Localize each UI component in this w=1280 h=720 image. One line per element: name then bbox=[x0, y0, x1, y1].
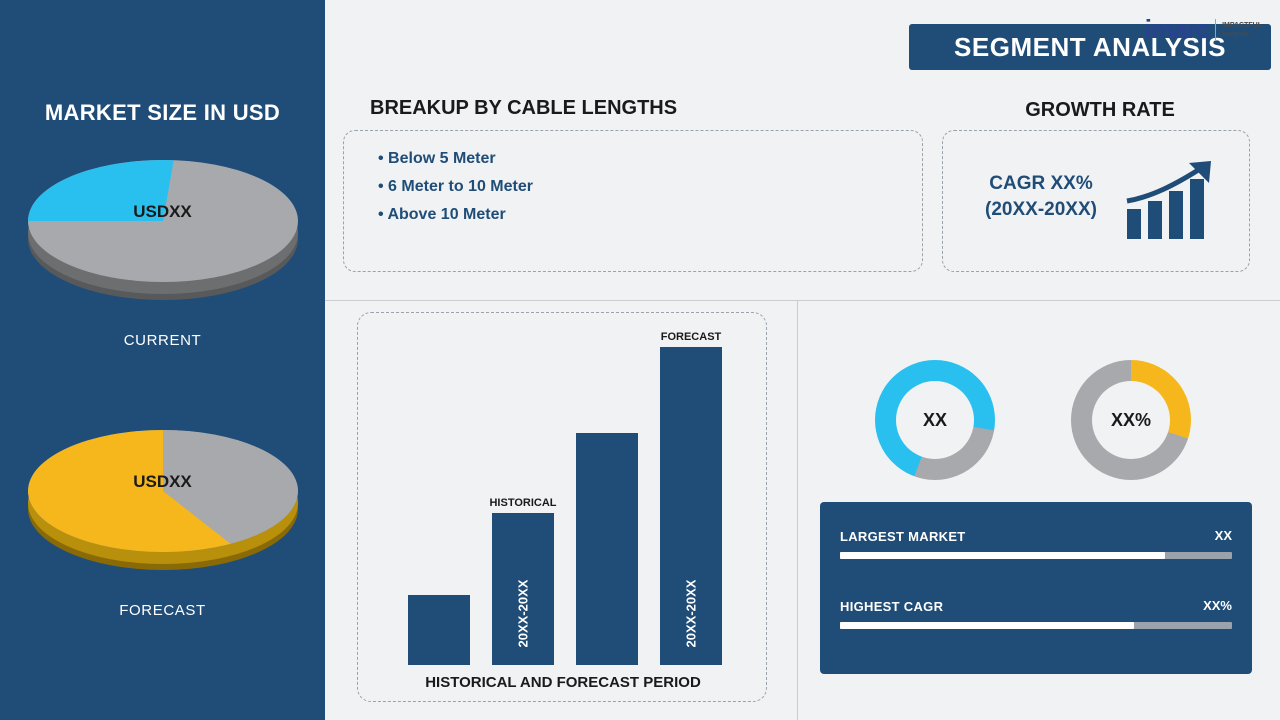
breakup-heading: BREAKUP BY CABLE LENGTHS bbox=[370, 97, 677, 120]
market-value-donut-label: XX bbox=[896, 381, 974, 459]
growth-rate-heading: GROWTH RATE bbox=[945, 99, 1255, 122]
vertical-divider bbox=[797, 300, 798, 720]
list-item: Above 10 Meter bbox=[378, 201, 922, 229]
bar-chart-plot-area: HISTORICAL 20XX-20XX FORECAST 20XX-20XX bbox=[386, 347, 741, 665]
bar-chart-axis-label: HISTORICAL AND FORECAST PERIOD bbox=[358, 674, 768, 691]
market-value-donut: XX bbox=[875, 360, 995, 480]
bar-2-label: 20XX-20XX bbox=[516, 580, 531, 648]
stat-row-highest-cagr: HIGHEST CAGR XX% bbox=[840, 598, 1232, 629]
forecast-pie-label: FORECAST bbox=[0, 602, 325, 619]
historical-tag: HISTORICAL bbox=[489, 497, 556, 509]
cagr-line1: CAGR XX% bbox=[961, 171, 1121, 197]
bar-1 bbox=[408, 595, 470, 665]
bar-2: HISTORICAL 20XX-20XX bbox=[492, 513, 554, 665]
highest-cagr-label: HIGHEST CAGR bbox=[840, 599, 943, 614]
breakup-list-box: Below 5 Meter 6 Meter to 10 Meter Above … bbox=[343, 130, 923, 272]
growth-rate-box: CAGR XX% (20XX-20XX) bbox=[942, 130, 1250, 272]
segment-analysis-infographic: MARKET SIZE IN USD USDXX CURRENT USD bbox=[0, 0, 1280, 720]
largest-market-bar-fill bbox=[840, 552, 1165, 559]
stat-row-largest-market: LARGEST MARKET XX bbox=[840, 528, 1232, 559]
list-item: Below 5 Meter bbox=[378, 145, 922, 173]
market-stats-card: LARGEST MARKET XX HIGHEST CAGR XX% bbox=[820, 502, 1252, 674]
imarc-logo: imarc IMPACTFUL Insights bbox=[1145, 14, 1262, 45]
historical-forecast-bar-chart: HISTORICAL 20XX-20XX FORECAST 20XX-20XX … bbox=[357, 312, 767, 702]
current-pie-chart: USDXX CURRENT bbox=[0, 160, 325, 350]
market-size-title: MARKET SIZE IN USD bbox=[0, 100, 325, 126]
largest-market-bar-track bbox=[840, 552, 1232, 559]
growth-share-donut-label: XX% bbox=[1092, 381, 1170, 459]
bar-4-label: 20XX-20XX bbox=[684, 580, 699, 648]
cagr-line2: (20XX-20XX) bbox=[961, 197, 1121, 223]
horizontal-divider bbox=[325, 300, 1280, 301]
growth-arrow-chart-icon bbox=[1123, 161, 1227, 241]
logo-tagline-line2: Insights bbox=[1222, 30, 1262, 39]
highest-cagr-bar-fill bbox=[840, 622, 1134, 629]
logo-tagline-line1: IMPACTFUL bbox=[1222, 21, 1262, 30]
cagr-text: CAGR XX% (20XX-20XX) bbox=[961, 171, 1121, 223]
market-size-panel: MARKET SIZE IN USD USDXX CURRENT USD bbox=[0, 0, 325, 720]
largest-market-label: LARGEST MARKET bbox=[840, 529, 966, 544]
current-pie-value: USDXX bbox=[28, 202, 298, 222]
current-pie-label: CURRENT bbox=[0, 332, 325, 349]
bar-3 bbox=[576, 433, 638, 665]
logo-tagline: IMPACTFUL Insights bbox=[1222, 21, 1262, 39]
logo-divider bbox=[1215, 19, 1216, 41]
forecast-pie-chart: USDXX FORECAST bbox=[0, 430, 325, 620]
list-item: 6 Meter to 10 Meter bbox=[378, 173, 922, 201]
growth-share-donut: XX% bbox=[1071, 360, 1191, 480]
bar-4: FORECAST 20XX-20XX bbox=[660, 347, 722, 665]
largest-market-value: XX bbox=[1215, 528, 1232, 543]
logo-wordmark: imarc bbox=[1145, 14, 1209, 45]
highest-cagr-value: XX% bbox=[1203, 598, 1232, 613]
highest-cagr-bar-track bbox=[840, 622, 1232, 629]
forecast-pie-value: USDXX bbox=[28, 472, 298, 492]
forecast-tag: FORECAST bbox=[661, 331, 722, 343]
